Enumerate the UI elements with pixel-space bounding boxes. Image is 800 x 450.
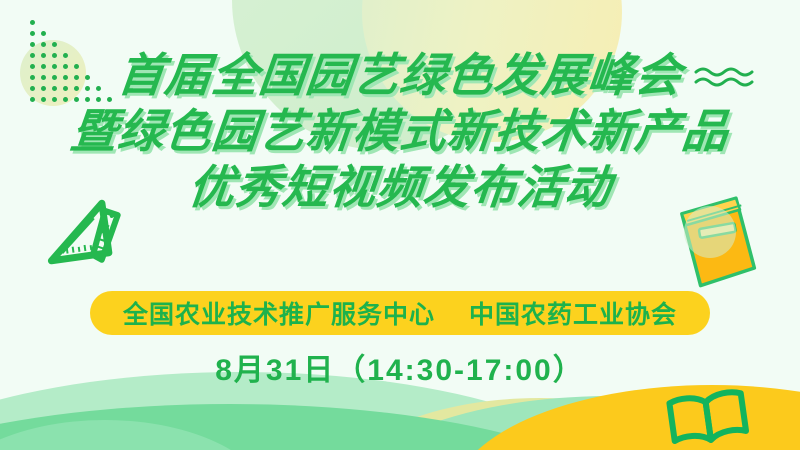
- organizer-name-2: 中国农药工业协会: [469, 295, 677, 331]
- organizer-name-1: 全国农业技术推广服务中心: [123, 295, 435, 331]
- event-date-time: 8月31日（14:30-17:00）: [0, 345, 800, 389]
- title-line-2: 暨绿色园艺新模式新技术新产品: [0, 108, 800, 154]
- organizers-banner: 全国农业技术推广服务中心 中国农药工业协会: [90, 291, 710, 335]
- poster-title: 首届全国园艺绿色发展峰会 暨绿色园艺新模式新技术新产品 优秀短视频发布活动: [0, 52, 800, 210]
- decorative-dot: [30, 31, 35, 36]
- closed-book-icon: [672, 196, 764, 301]
- triangle-ruler-icon: [40, 198, 128, 275]
- title-line-1: 首届全国园艺绿色发展峰会: [0, 52, 800, 98]
- decorative-dot: [41, 31, 46, 36]
- decorative-dot: [30, 20, 35, 25]
- promotional-poster: 首届全国园艺绿色发展峰会 暨绿色园艺新模式新技术新产品 优秀短视频发布活动: [0, 0, 800, 450]
- decorative-dot: [41, 42, 46, 47]
- open-book-icon: [660, 388, 758, 450]
- decorative-dot: [30, 42, 35, 47]
- decorative-dot: [52, 42, 57, 47]
